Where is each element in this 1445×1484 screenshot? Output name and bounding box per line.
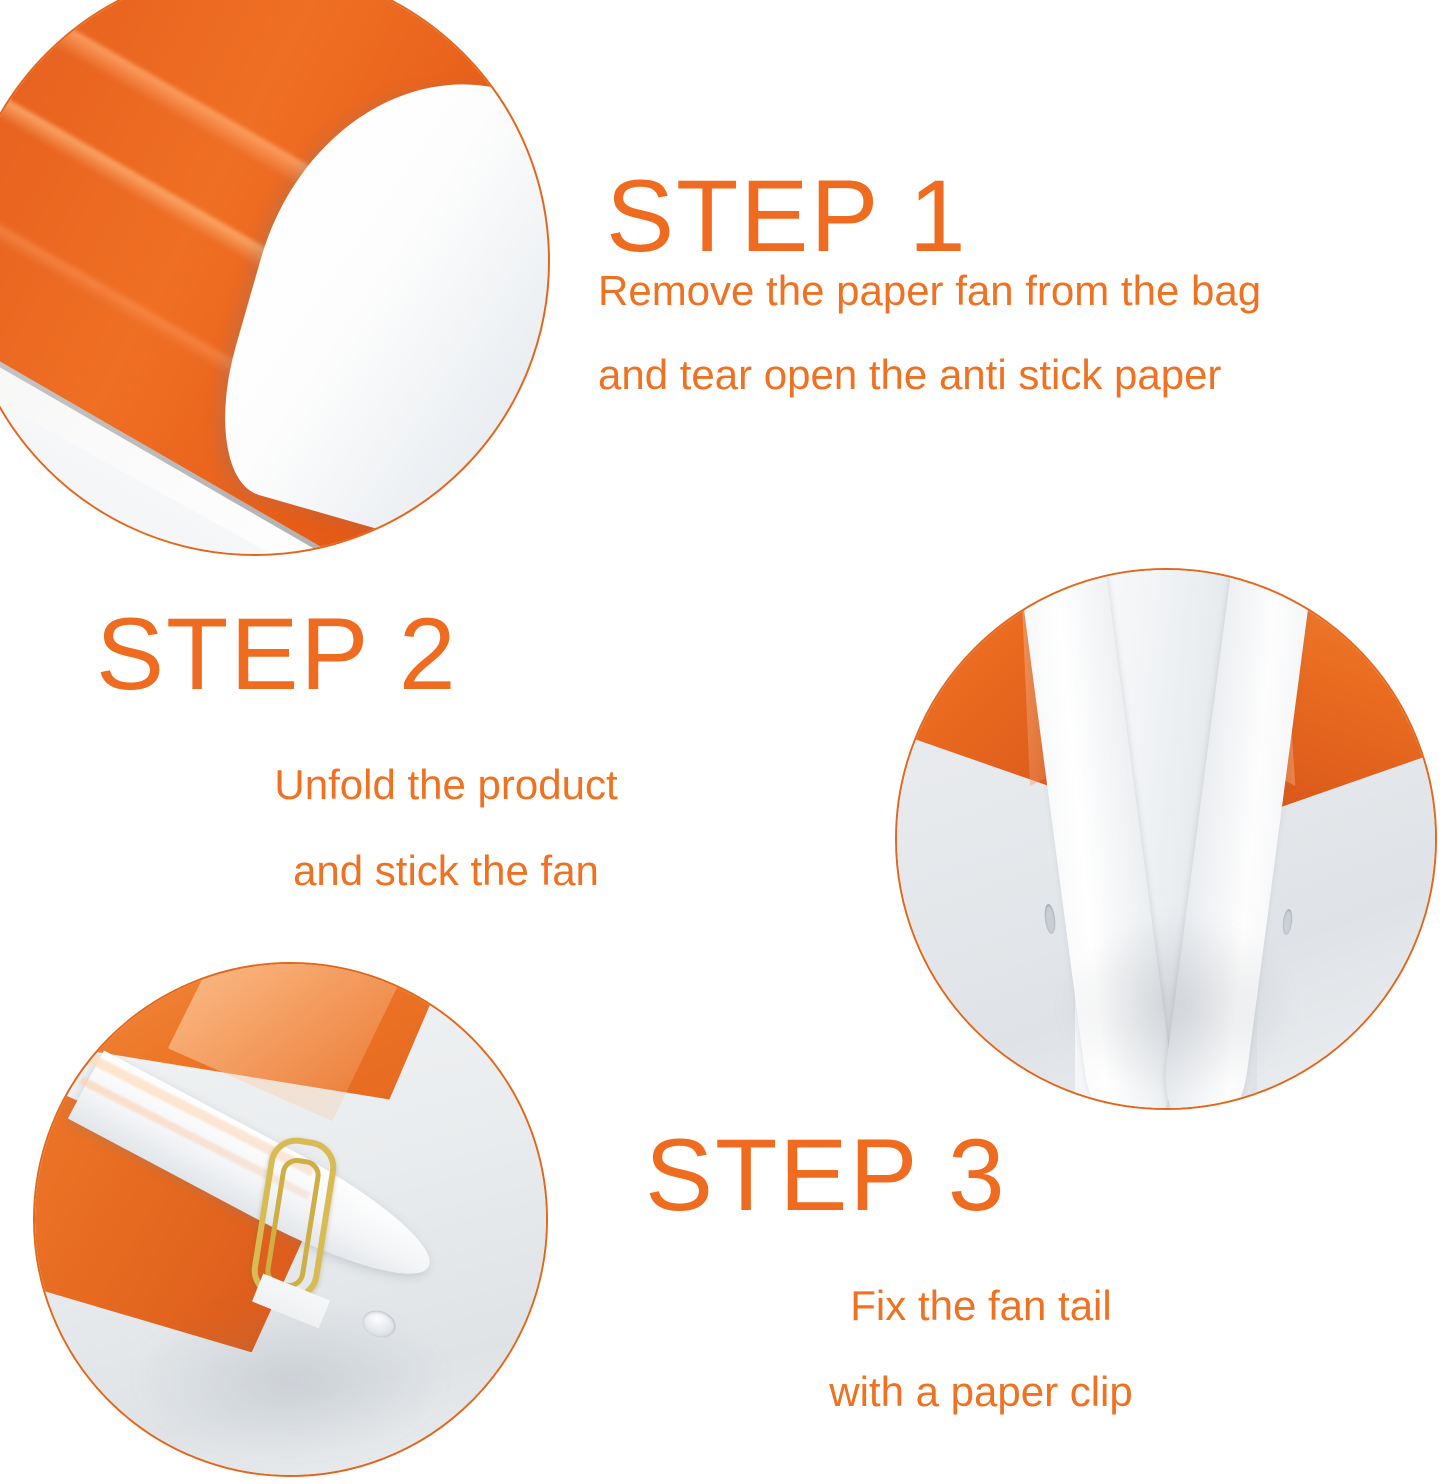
step-1-line-2: and tear open the anti stick paper <box>598 354 1261 396</box>
step-1-photo-circle <box>0 0 550 556</box>
step-2-photo-inner <box>897 570 1435 1108</box>
step-1-text-block: STEP 1 Remove the paper fan from the bag… <box>598 163 1261 396</box>
step-3-text-block: STEP 3 Fix the fan tail with a paper cli… <box>641 1122 1321 1413</box>
fan-shadow <box>137 1301 444 1454</box>
step-2-heading: STEP 2 <box>96 601 796 708</box>
step-2-photo-circle <box>895 568 1437 1110</box>
step-3-line-2: with a paper clip <box>641 1371 1321 1413</box>
step-2-body: Unfold the product and stick the fan <box>96 764 796 892</box>
step-1-line-1: Remove the paper fan from the bag <box>598 270 1261 312</box>
step-3-photo-inner <box>35 964 546 1475</box>
step-3-line-1: Fix the fan tail <box>641 1285 1321 1327</box>
handle-shadow <box>1058 914 1295 1097</box>
step-3-photo-circle <box>33 962 548 1477</box>
step-1-photo-inner <box>0 0 548 554</box>
step-3-body: Fix the fan tail with a paper clip <box>641 1285 1321 1413</box>
step-1-heading: STEP 1 <box>606 163 1261 270</box>
instruction-infographic: STEP 1 Remove the paper fan from the bag… <box>0 0 1445 1484</box>
step-2-line-2: and stick the fan <box>96 850 796 892</box>
step-2-text-block: STEP 2 Unfold the product and stick the … <box>96 601 796 892</box>
step-2-line-1: Unfold the product <box>96 764 796 806</box>
step-3-heading: STEP 3 <box>645 1122 1321 1229</box>
